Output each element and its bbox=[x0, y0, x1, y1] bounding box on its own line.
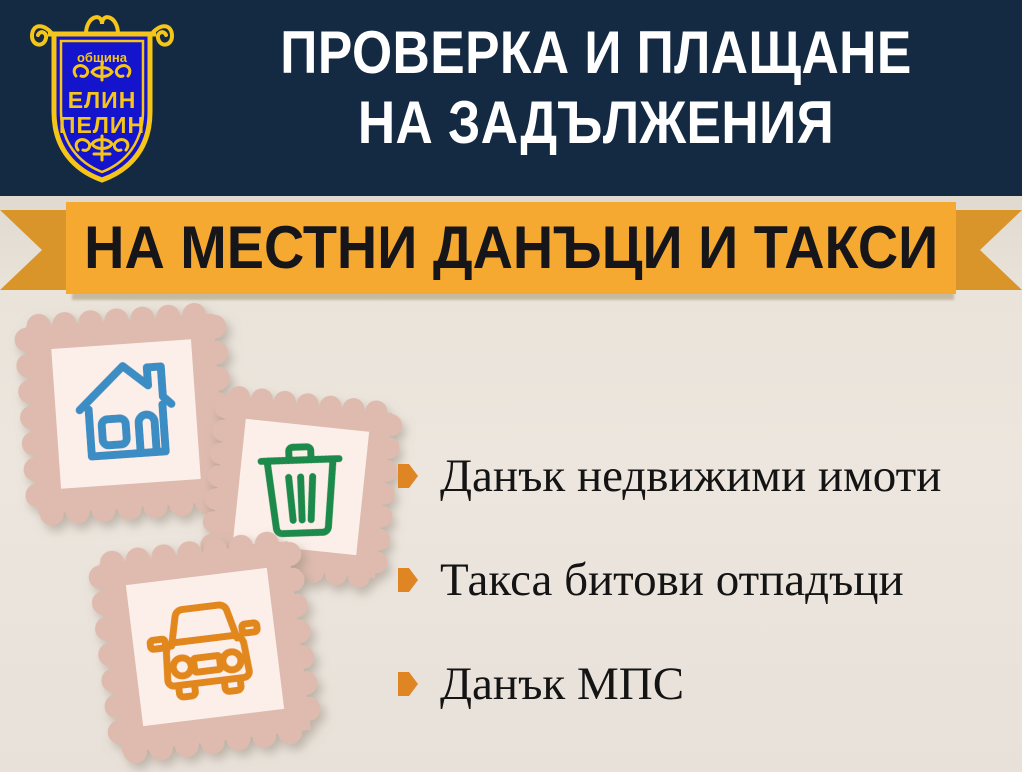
ribbon-label: НА МЕСТНИ ДАНЪЦИ И ТАКСИ bbox=[84, 217, 938, 279]
crest-name-line1: ЕЛИН bbox=[68, 87, 137, 113]
ribbon-main-panel: НА МЕСТНИ ДАНЪЦИ И ТАКСИ bbox=[66, 202, 956, 294]
list-item[interactable]: Данък МПС bbox=[398, 632, 1008, 736]
list-item-label: Такса битови отпадъци bbox=[440, 554, 904, 606]
list-item-label: Данък МПС bbox=[440, 658, 684, 710]
bullet-arrow-icon bbox=[398, 464, 418, 488]
page-title: ПРОВЕРКА И ПЛАЩАНЕ НА ЗАДЪЛЖЕНИЯ bbox=[243, 18, 948, 158]
tax-type-list: Данък недвижими имоти Такса битови отпад… bbox=[398, 424, 1008, 736]
stamp-real-estate bbox=[18, 306, 234, 522]
bullet-arrow-icon bbox=[398, 568, 418, 592]
list-item-label: Данък недвижими имоти bbox=[440, 450, 941, 502]
page-title-line-1: ПРОВЕРКА И ПЛАЩАНЕ bbox=[280, 19, 911, 86]
page-title-line-2: НА ЗАДЪЛЖЕНИЯ bbox=[243, 88, 948, 158]
trash-bin-icon bbox=[261, 446, 342, 535]
coat-of-arms-shield-icon: община ЕЛИН ПЕЛИН bbox=[26, 8, 178, 188]
list-item[interactable]: Данък недвижими имоти bbox=[398, 424, 1008, 528]
crest-name-line2: ПЕЛИН bbox=[59, 112, 145, 138]
stamp-vehicle bbox=[96, 538, 314, 756]
stamp-paper bbox=[51, 339, 200, 488]
list-item[interactable]: Такса битови отпадъци bbox=[398, 528, 1008, 632]
bullet-arrow-icon bbox=[398, 672, 418, 696]
poster-canvas: община ЕЛИН ПЕЛИН ПРОВЕРКА И ПЛАЩАНЕ Н bbox=[0, 0, 1022, 772]
ribbon-banner: НА МЕСТНИ ДАНЪЦИ И ТАКСИ bbox=[0, 196, 1022, 304]
